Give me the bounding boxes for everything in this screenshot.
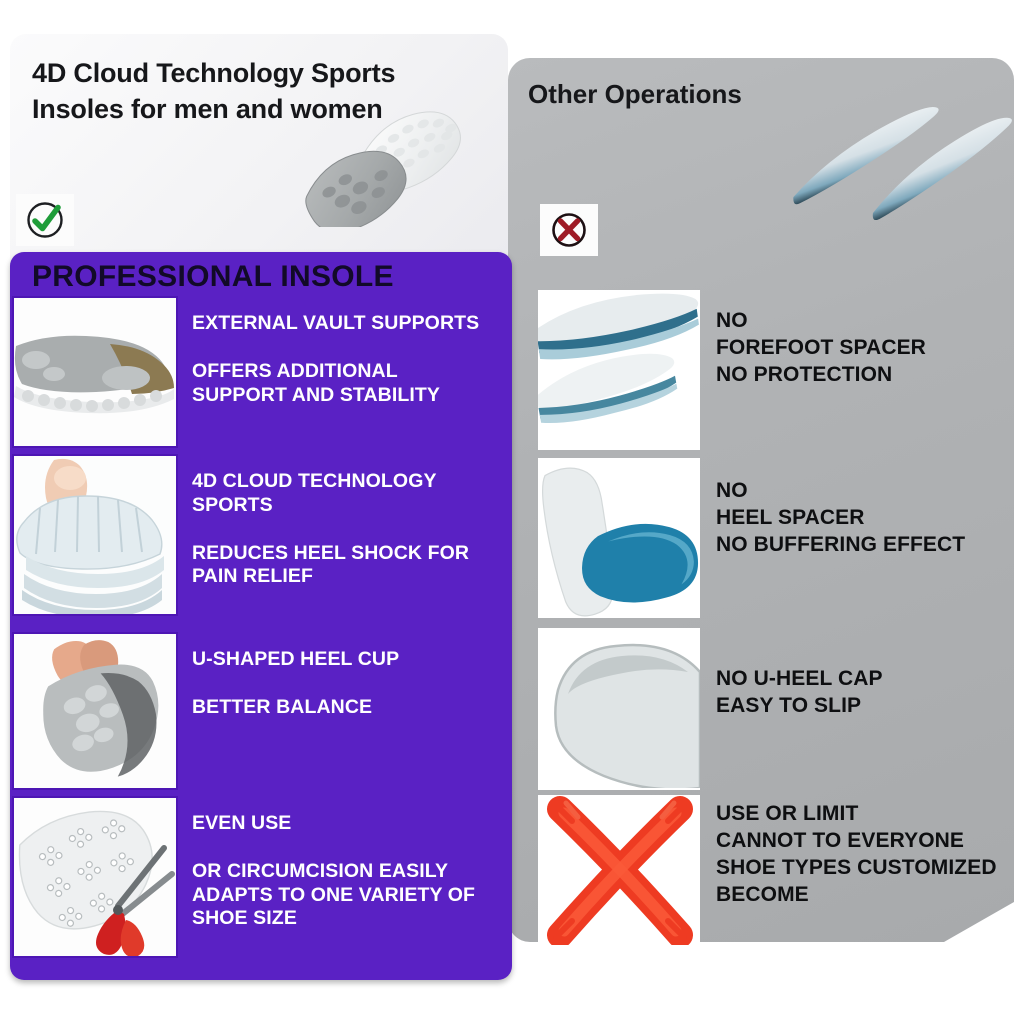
red-cross-circle-icon — [548, 209, 590, 251]
flat-blue-insoles-photo — [538, 290, 700, 450]
feature-row: EXTERNAL VAULT SUPPORTS OFFERS ADDITIONA… — [12, 296, 490, 448]
drawback-row: USE OR LIMIT CANNOT TO EVERYONE SHOE TYP… — [538, 795, 1020, 945]
feature-line-1: EXTERNAL VAULT SUPPORTS — [192, 312, 490, 336]
feature-text: 4D CLOUD TECHNOLOGY SPORTS REDUCES HEEL … — [178, 454, 490, 616]
red-brush-cross-mark — [538, 795, 700, 945]
blue-heel-pad-photo — [538, 458, 700, 618]
green-check-badge — [16, 194, 74, 246]
green-check-circle-icon — [23, 198, 67, 242]
feature-line-2: REDUCES HEEL SHOCK FOR PAIN RELIEF — [192, 542, 490, 590]
feature-line-2: OR CIRCUMCISION EASILY ADAPTS TO ONE VAR… — [192, 860, 490, 931]
drawback-text: USE OR LIMIT CANNOT TO EVERYONE SHOE TYP… — [700, 795, 1020, 945]
insole-trim-with-scissors-photo — [12, 796, 178, 958]
insole-external-vault-support-photo — [12, 296, 178, 448]
drawback-text: NO FOREFOOT SPACER NO PROTECTION — [700, 290, 1020, 450]
cloud-cushion-finger-press-photo — [12, 454, 178, 616]
drawback-text: NO U-HEEL CAP EASY TO SLIP — [700, 628, 1020, 790]
right-hero-title: Other Operations — [528, 78, 858, 112]
feature-line-1: U-SHAPED HEEL CUP — [192, 648, 490, 672]
feature-line-2: BETTER BALANCE — [192, 696, 490, 720]
feature-row: EVEN USE OR CIRCUMCISION EASILY ADAPTS T… — [12, 796, 490, 958]
feature-line-1: 4D CLOUD TECHNOLOGY SPORTS — [192, 470, 490, 518]
feature-text: U-SHAPED HEEL CUP BETTER BALANCE — [178, 632, 490, 790]
drawback-row: NO FOREFOOT SPACER NO PROTECTION — [538, 290, 1020, 450]
left-hero-title: 4D Cloud Technology Sports Insoles for m… — [32, 56, 472, 127]
feature-row: 4D CLOUD TECHNOLOGY SPORTS REDUCES HEEL … — [12, 454, 490, 616]
feature-line-2: OFFERS ADDITIONAL SUPPORT AND STABILITY — [192, 360, 490, 408]
drawback-line: NO HEEL SPACER NO BUFFERING EFFECT — [716, 478, 1020, 559]
red-cross-badge — [540, 204, 598, 256]
drawback-row: NO U-HEEL CAP EASY TO SLIP — [538, 628, 1020, 790]
feature-row: U-SHAPED HEEL CUP BETTER BALANCE — [12, 632, 490, 790]
feature-text: EXTERNAL VAULT SUPPORTS OFFERS ADDITIONA… — [178, 296, 490, 448]
plain-flat-heel-photo — [538, 628, 700, 790]
feature-text: EVEN USE OR CIRCUMCISION EASILY ADAPTS T… — [178, 796, 490, 958]
card-title: PROFESSIONAL INSOLE — [32, 260, 394, 294]
feature-line-1: EVEN USE — [192, 812, 490, 836]
drawback-text: NO HEEL SPACER NO BUFFERING EFFECT — [700, 458, 1020, 618]
drawback-line: USE OR LIMIT CANNOT TO EVERYONE SHOE TYP… — [716, 801, 1020, 909]
drawback-row: NO HEEL SPACER NO BUFFERING EFFECT — [538, 458, 1020, 618]
u-shaped-heel-cup-foot-photo — [12, 632, 178, 790]
drawback-line: NO U-HEEL CAP EASY TO SLIP — [716, 666, 1020, 720]
drawback-line: NO FOREFOOT SPACER NO PROTECTION — [716, 308, 1020, 389]
